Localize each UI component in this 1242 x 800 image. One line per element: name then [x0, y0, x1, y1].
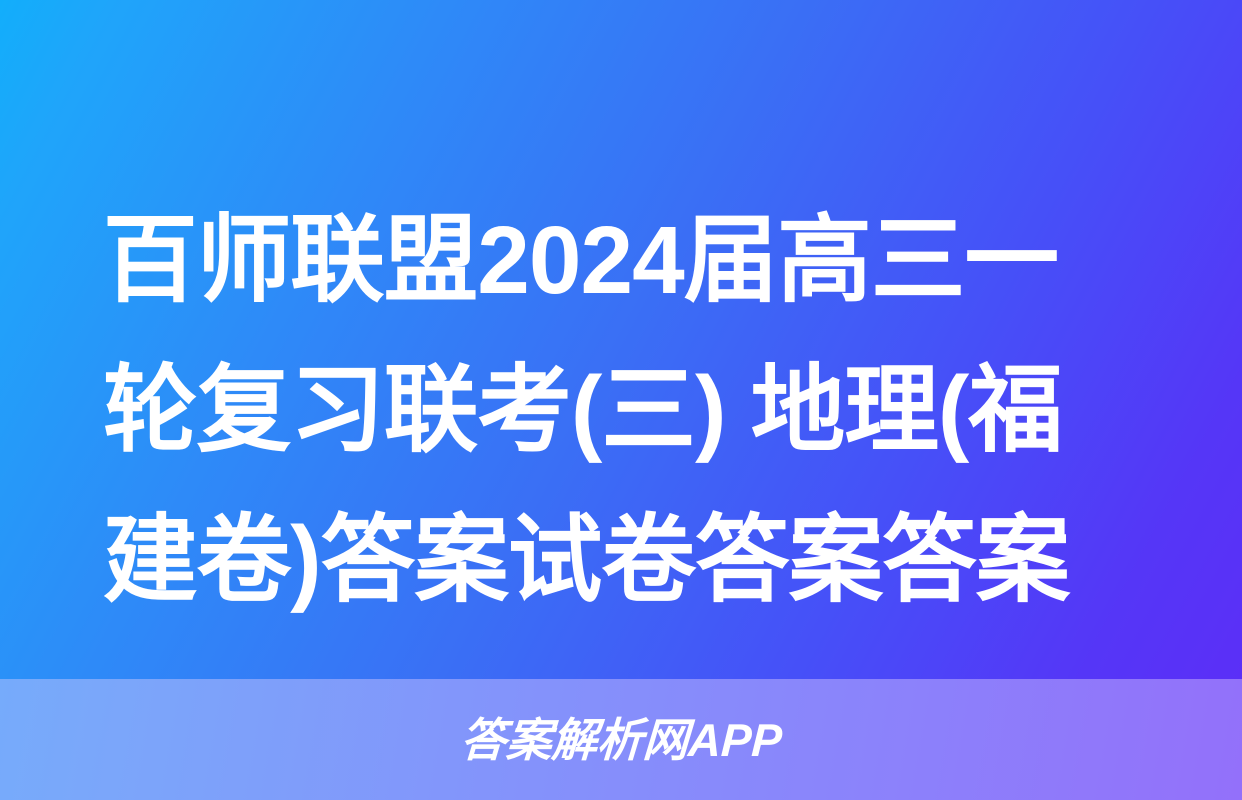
brand-footer-bar: 答案解析网APP: [0, 679, 1242, 800]
answer-sheet-banner: 百师联盟2024届高三一 轮复习联考(三) 地理(福 建卷)答案试卷答案答案 答…: [0, 0, 1242, 800]
title-line-1: 百师联盟2024届高三一: [103, 186, 1147, 336]
brand-name-label: 答案解析网APP: [459, 717, 783, 763]
hero-gradient-panel: 百师联盟2024届高三一 轮复习联考(三) 地理(福 建卷)答案试卷答案答案: [0, 0, 1242, 679]
title-line-2: 轮复习联考(三) 地理(福: [103, 336, 1147, 486]
page-title: 百师联盟2024届高三一 轮复习联考(三) 地理(福 建卷)答案试卷答案答案: [103, 186, 1163, 636]
title-line-3: 建卷)答案试卷答案答案: [103, 486, 1147, 636]
